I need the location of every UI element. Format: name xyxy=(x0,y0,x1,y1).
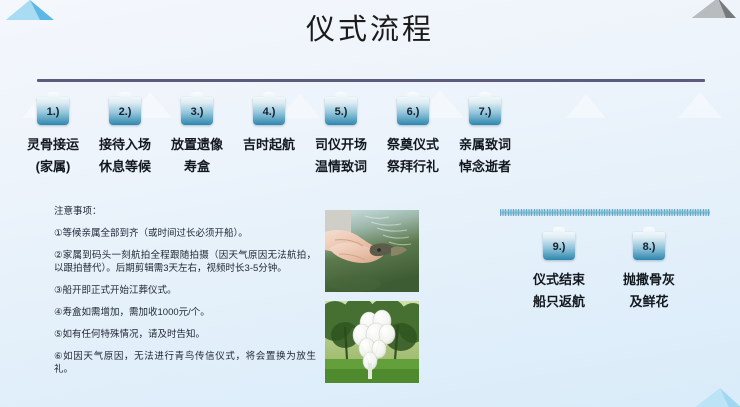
note-item-2: ②家属到码头一刻航拍全程跟随拍摄（因天气原因无法航拍，以跟拍替代）。后期剪辑需3… xyxy=(54,249,316,275)
step-badge-8: 8.) xyxy=(633,232,665,260)
step-label-8-line2: 及鲜花 xyxy=(603,291,695,313)
note-item-5: ⑤如有任何特殊情况，请及时告知。 xyxy=(54,328,316,341)
step-badge-4: 4.) xyxy=(253,97,285,125)
presentation-slide: 仪式流程 1.) 灵骨接运 (家属) 2.) 接待入场 休息等候 3.) 放置遗… xyxy=(0,0,740,407)
hatched-separator-bar xyxy=(500,209,710,216)
step-badge-6: 6.) xyxy=(397,97,429,125)
fish-release-photo xyxy=(325,210,419,292)
notes-block: 注意事项： ①等候亲属全部到齐（或时间过长必须开船）。 ②家属到码头一刻航拍全程… xyxy=(54,205,316,385)
step-badge-2: 2.) xyxy=(109,97,141,125)
note-item-4: ④寿盒如需增加，需加收1000元/个。 xyxy=(54,306,316,319)
step-label-9-line1: 仪式结束 xyxy=(513,269,605,291)
step-badge-9: 9.) xyxy=(543,232,575,260)
step-badge-7: 7.) xyxy=(469,97,501,125)
step-item-9[interactable]: 9.) 仪式结束 船只返航 xyxy=(513,232,605,313)
step-label-7-line2: 悼念逝者 xyxy=(439,156,531,178)
step-label-9-line2: 船只返航 xyxy=(513,291,605,313)
step-label-7-line1: 亲属致词 xyxy=(439,134,531,156)
note-item-3: ③船开即正式开始江葬仪式。 xyxy=(54,284,316,297)
step-badge-3: 3.) xyxy=(181,97,213,125)
bottom-right-mountain-icon xyxy=(686,382,740,407)
step-badge-1: 1.) xyxy=(37,97,69,125)
note-item-6: ⑥如因天气原因，无法进行青鸟传信仪式，将会置换为放生礼。 xyxy=(54,350,316,376)
step-badge-5: 5.) xyxy=(325,97,357,125)
white-balloons-photo xyxy=(325,301,419,383)
page-title: 仪式流程 xyxy=(0,10,740,50)
note-item-1: ①等候亲属全部到齐（或时间过长必须开船）。 xyxy=(54,227,316,240)
step-item-8[interactable]: 8.) 抛撒骨灰 及鲜花 xyxy=(603,232,695,313)
step-item-7[interactable]: 7.) 亲属致词 悼念逝者 xyxy=(439,97,531,178)
step-label-8-line1: 抛撒骨灰 xyxy=(603,269,695,291)
step-label-3-line2: 寿盒 xyxy=(151,156,243,178)
notes-heading: 注意事项： xyxy=(54,205,316,218)
title-divider xyxy=(37,79,705,82)
